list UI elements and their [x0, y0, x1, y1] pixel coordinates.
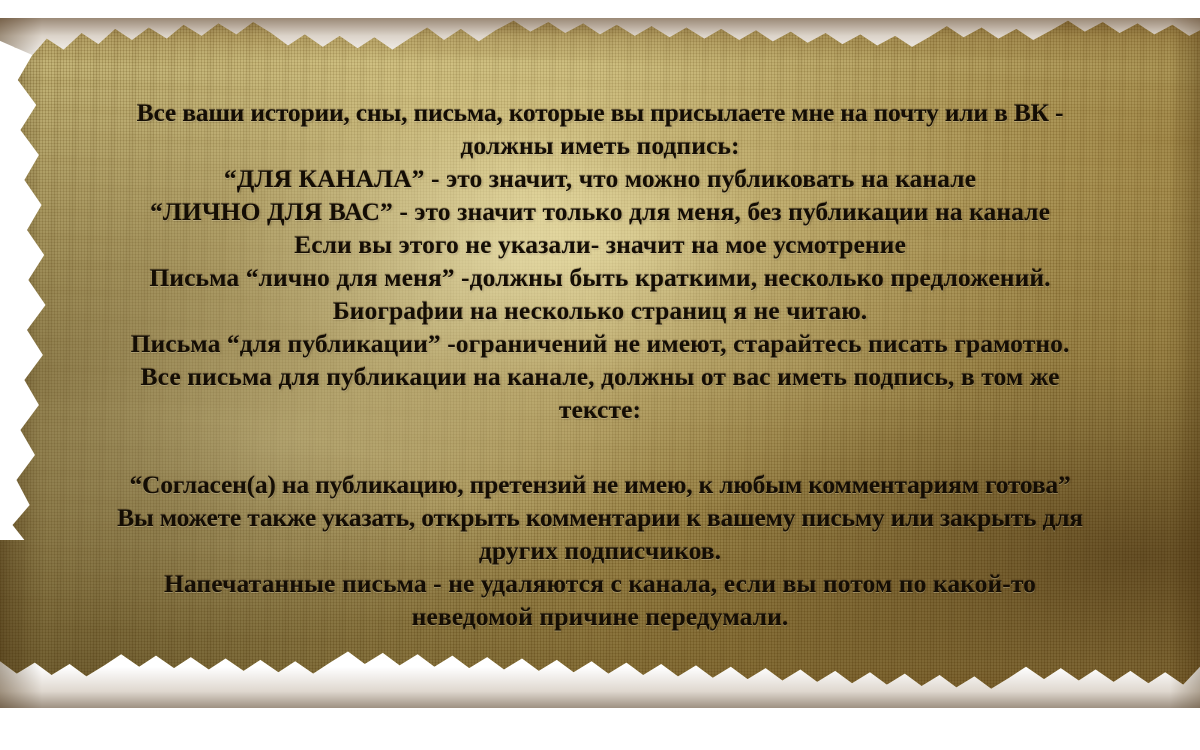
text-line: Все письма для публикации на канале, дол… — [30, 360, 1170, 393]
text-line: Все ваши истории, сны, письма, которые в… — [30, 96, 1170, 129]
text-line: Напечатанные письма - не удаляются с кан… — [30, 567, 1170, 600]
text-line: неведомой причине передумали. — [30, 600, 1170, 633]
text-line: “ДЛЯ КАНАЛА” - это значит, что можно пуб… — [30, 162, 1170, 195]
paragraph-two: “Согласен(а) на публикацию, претензий не… — [30, 468, 1170, 633]
text-line: Если вы этого не указали- значит на мое … — [30, 228, 1170, 261]
note-text-layer: Все ваши истории, сны, письма, которые в… — [0, 0, 1200, 750]
text-line: Письма “для публикации” -ограничений не … — [30, 327, 1170, 360]
text-line: других подписчиков. — [30, 534, 1170, 567]
text-line: Письма “лично для меня” -должны быть кра… — [30, 261, 1170, 294]
text-line: “Согласен(а) на публикацию, претензий не… — [30, 468, 1170, 501]
text-line: “ЛИЧНО ДЛЯ ВАС” - это значит только для … — [30, 195, 1170, 228]
screenshot-root: Все ваши истории, сны, письма, которые в… — [0, 0, 1200, 750]
text-line: должны иметь подпись: — [30, 129, 1170, 162]
text-line: Биографии на несколько страниц я не чита… — [30, 294, 1170, 327]
text-line: Вы можете также указать, открыть коммент… — [30, 501, 1170, 534]
text-line: тексте: — [30, 393, 1170, 426]
paragraph-one: Все ваши истории, сны, письма, которые в… — [30, 96, 1170, 426]
